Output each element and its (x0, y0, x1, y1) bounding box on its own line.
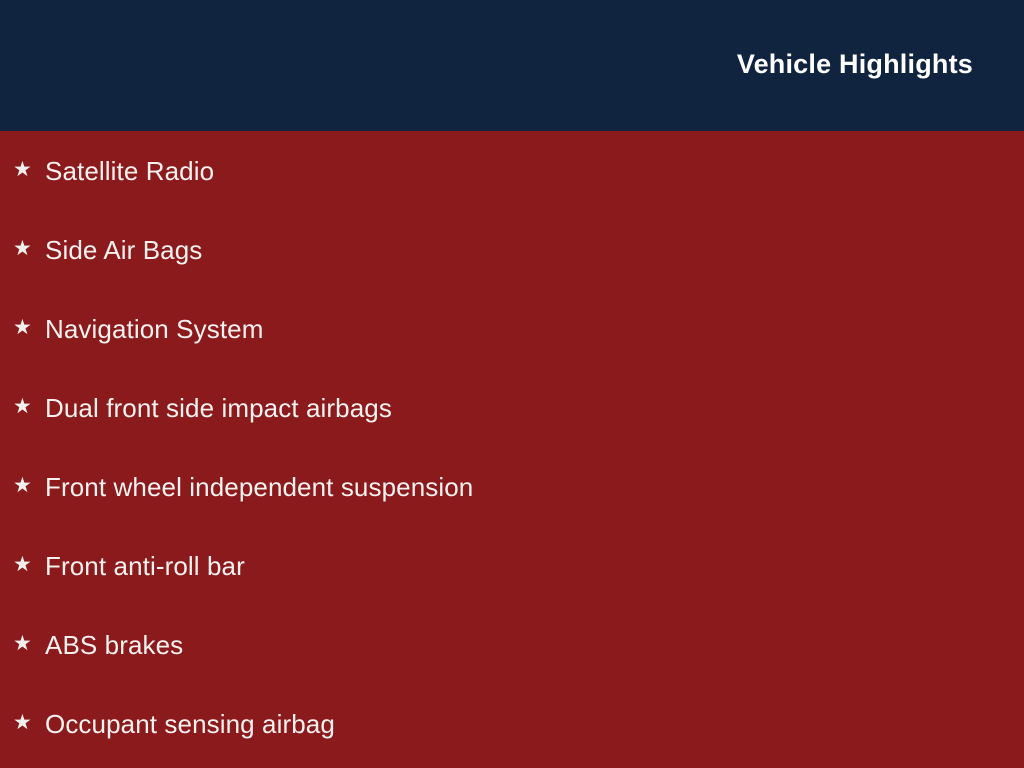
page-title: Vehicle Highlights (737, 47, 973, 81)
list-item-label: Occupant sensing airbag (45, 708, 335, 740)
list-item: ★ Side Air Bags (0, 210, 1024, 289)
star-icon: ★ (13, 633, 31, 654)
star-icon: ★ (13, 712, 31, 733)
list-item-label: Satellite Radio (45, 155, 214, 187)
star-icon: ★ (13, 554, 31, 575)
list-item: ★ Navigation System (0, 289, 1024, 368)
star-icon: ★ (13, 238, 31, 259)
star-icon: ★ (13, 475, 31, 496)
list-item: ★ Satellite Radio (0, 131, 1024, 210)
list-item-label: Navigation System (45, 313, 263, 345)
slide-vehicle-highlights: Vehicle Highlights ★ Satellite Radio ★ S… (0, 0, 1024, 768)
vehicle-highlights-list: ★ Satellite Radio ★ Side Air Bags ★ Navi… (0, 131, 1024, 768)
star-icon: ★ (13, 396, 31, 417)
list-item: ★ Dual front side impact airbags (0, 368, 1024, 447)
list-item: ★ Front anti-roll bar (0, 526, 1024, 605)
list-item: ★ Occupant sensing airbag (0, 684, 1024, 763)
star-icon: ★ (13, 159, 31, 180)
slide-header-bar: Vehicle Highlights (0, 0, 1024, 131)
list-item: ★ ABS brakes (0, 605, 1024, 684)
list-item-label: Front anti-roll bar (45, 550, 245, 582)
list-item: ★ Front wheel independent suspension (0, 447, 1024, 526)
list-item-label: Side Air Bags (45, 234, 202, 266)
list-item-label: Dual front side impact airbags (45, 392, 392, 424)
list-item-label: ABS brakes (45, 629, 183, 661)
star-icon: ★ (13, 317, 31, 338)
list-item-label: Front wheel independent suspension (45, 471, 473, 503)
